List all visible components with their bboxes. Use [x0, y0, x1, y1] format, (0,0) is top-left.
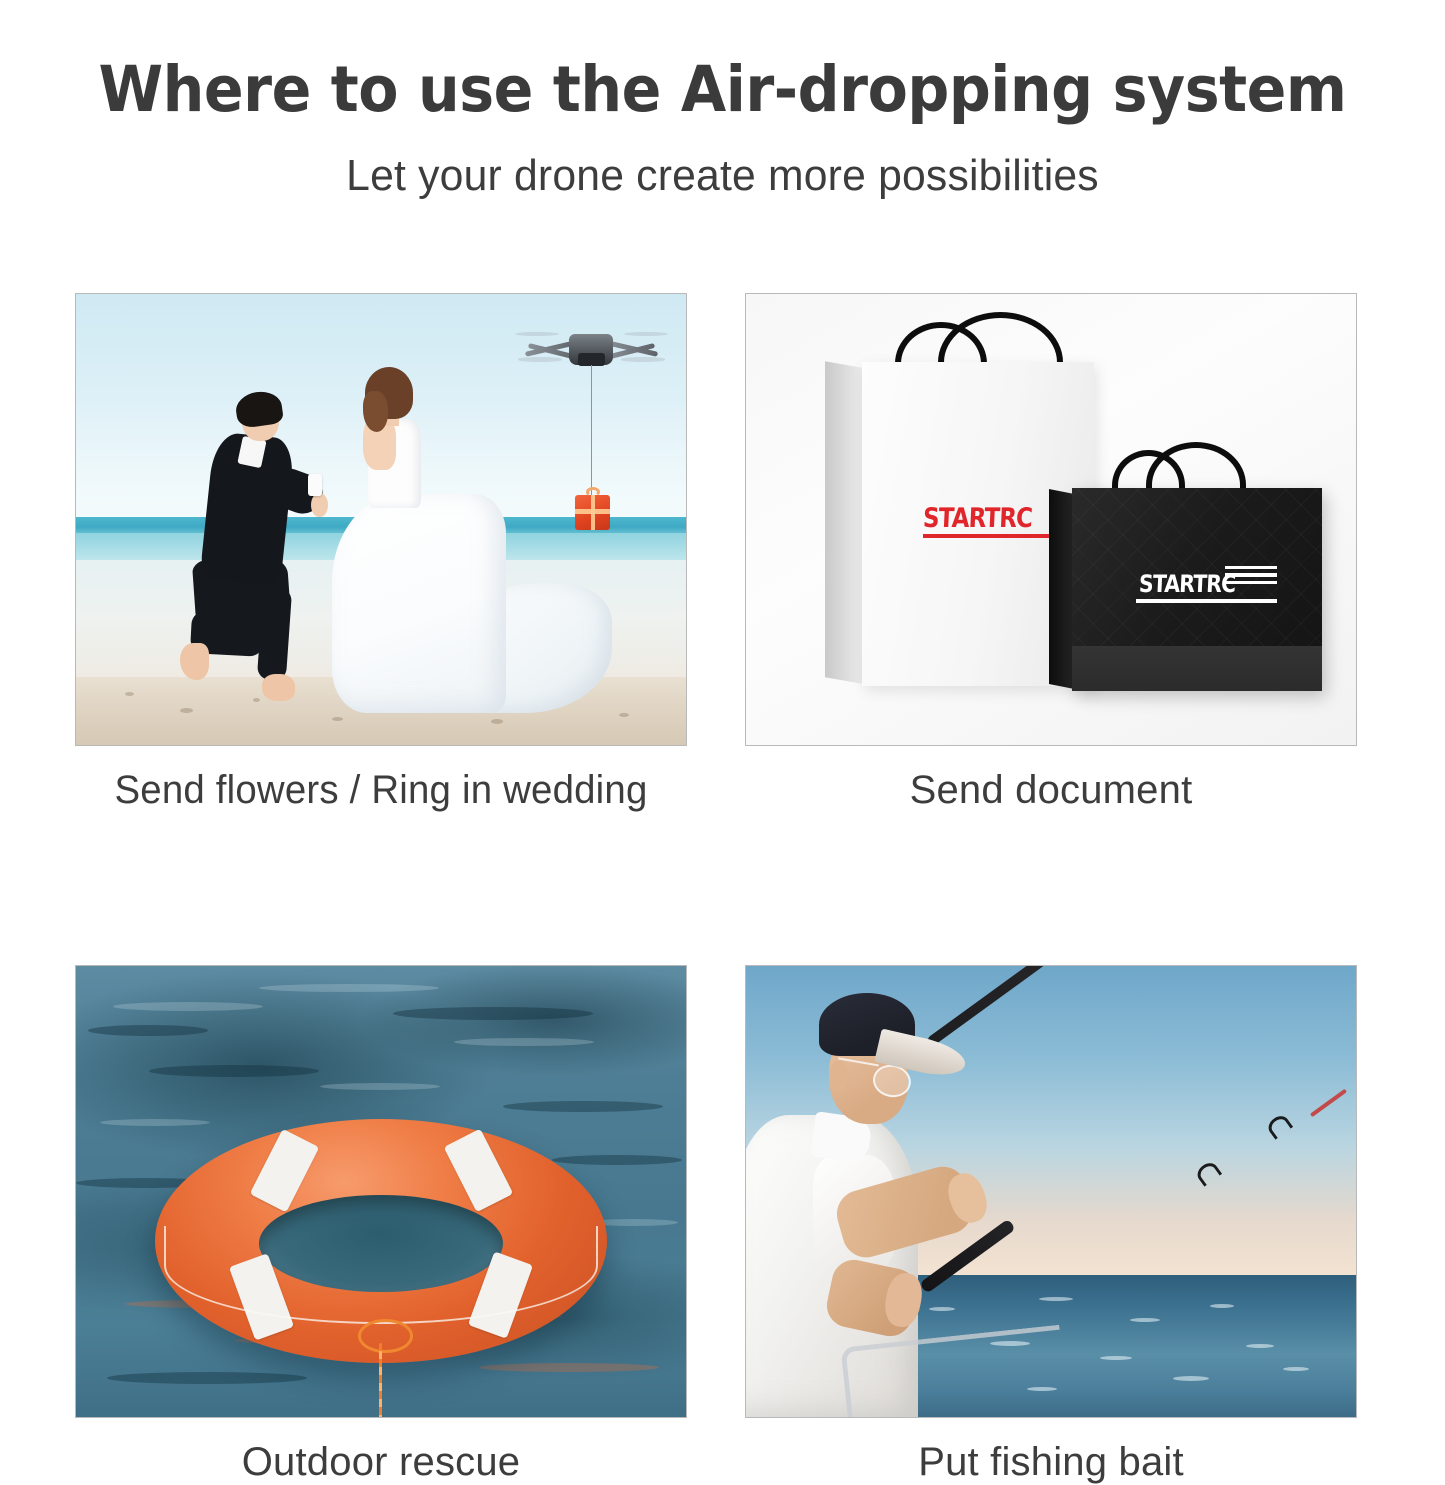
use-case-card-rescue: Outdoor rescue [75, 965, 687, 1485]
photo-frame-rescue [75, 965, 687, 1418]
sand-speck [619, 713, 629, 717]
water-ripple [454, 1038, 594, 1046]
drone-icon [518, 319, 664, 378]
use-case-card-wedding: Send flowers / Ring in wedding [75, 293, 687, 813]
caption-wedding: Send flowers / Ring in wedding [87, 768, 675, 813]
sand-speck [332, 717, 343, 721]
fisherman-ear [829, 1061, 848, 1093]
reflection-streak [479, 1363, 659, 1372]
sea-sparkle [1246, 1344, 1274, 1348]
drop-line [591, 365, 593, 503]
poster-header: Where to use the Air-dropping system Let… [0, 0, 1445, 201]
water-ripple [320, 1083, 440, 1090]
propeller-blur [518, 357, 562, 361]
water-dark-ripple [503, 1101, 663, 1112]
groom-figure [180, 398, 363, 705]
water-ripple [113, 1002, 263, 1011]
use-case-card-fishing: Put fishing bait [745, 965, 1357, 1485]
page-title: Where to use the Air-dropping system [51, 58, 1395, 121]
ring-box [308, 474, 323, 495]
photo-beach-proposal [76, 294, 686, 745]
propeller-blur [624, 332, 668, 336]
photo-frame-document: STARTRC STARTRC [745, 293, 1357, 746]
groom-foot-front [262, 674, 295, 702]
gift-ribbon-horizontal [575, 509, 610, 514]
life-ring-band [249, 1129, 318, 1213]
brand-logo-white-underline [1136, 599, 1276, 603]
poster-page: Where to use the Air-dropping system Let… [0, 0, 1445, 1445]
water-dark-ripple [88, 1025, 208, 1036]
water-dark-ripple [393, 1007, 593, 1020]
photo-life-ring [76, 966, 686, 1417]
grab-rope [164, 1226, 597, 1323]
photo-shopping-bags: STARTRC STARTRC [746, 294, 1356, 745]
white-bag-gusset [825, 361, 863, 683]
photo-frame-fishing [745, 965, 1357, 1418]
groom-foot-back [180, 643, 209, 680]
water-ripple [100, 1119, 210, 1126]
rope-knot [358, 1319, 412, 1353]
sea-sparkle [1210, 1304, 1234, 1308]
water-dark-ripple [149, 1065, 319, 1077]
sea-sparkle [1130, 1318, 1160, 1322]
page-subtitle: Let your drone create more possibilities [22, 151, 1424, 201]
water-dark-ripple [552, 1155, 682, 1165]
tow-rope [379, 1343, 382, 1417]
water-ripple [259, 984, 439, 992]
sea-sparkle [1100, 1356, 1132, 1360]
water-dark-ripple [107, 1372, 307, 1384]
sea-sparkle [1283, 1367, 1309, 1371]
groom-front-shin [257, 587, 293, 681]
brand-logo-white-bars [1225, 566, 1277, 600]
gift-bow [586, 487, 600, 498]
sand-speck [180, 708, 193, 713]
use-case-grid: Send flowers / Ring in wedding STARTRC [75, 293, 1357, 1485]
sand-speck [491, 719, 503, 724]
propeller-blur [621, 357, 665, 361]
bride-figure [326, 371, 607, 714]
black-bag-base-band [1072, 646, 1322, 691]
photo-fisherman [746, 966, 1356, 1417]
gift-box-icon [575, 495, 610, 530]
brand-logo-red: STARTRC [922, 503, 1032, 534]
life-ring-band [443, 1129, 512, 1213]
brand-logo-white: STARTRC [1139, 570, 1236, 598]
caption-document: Send document [745, 768, 1357, 813]
caption-rescue: Outdoor rescue [75, 1440, 687, 1485]
black-bag-gusset [1049, 489, 1075, 689]
propeller-blur [515, 332, 559, 336]
caption-fishing: Put fishing bait [745, 1440, 1357, 1485]
use-case-card-document: STARTRC STARTRC Send document [745, 293, 1357, 813]
life-ring [155, 1119, 606, 1363]
photo-frame-wedding [75, 293, 687, 746]
sea-sparkle [1173, 1376, 1209, 1381]
sand-speck [125, 692, 134, 696]
groom-hand [311, 493, 327, 518]
